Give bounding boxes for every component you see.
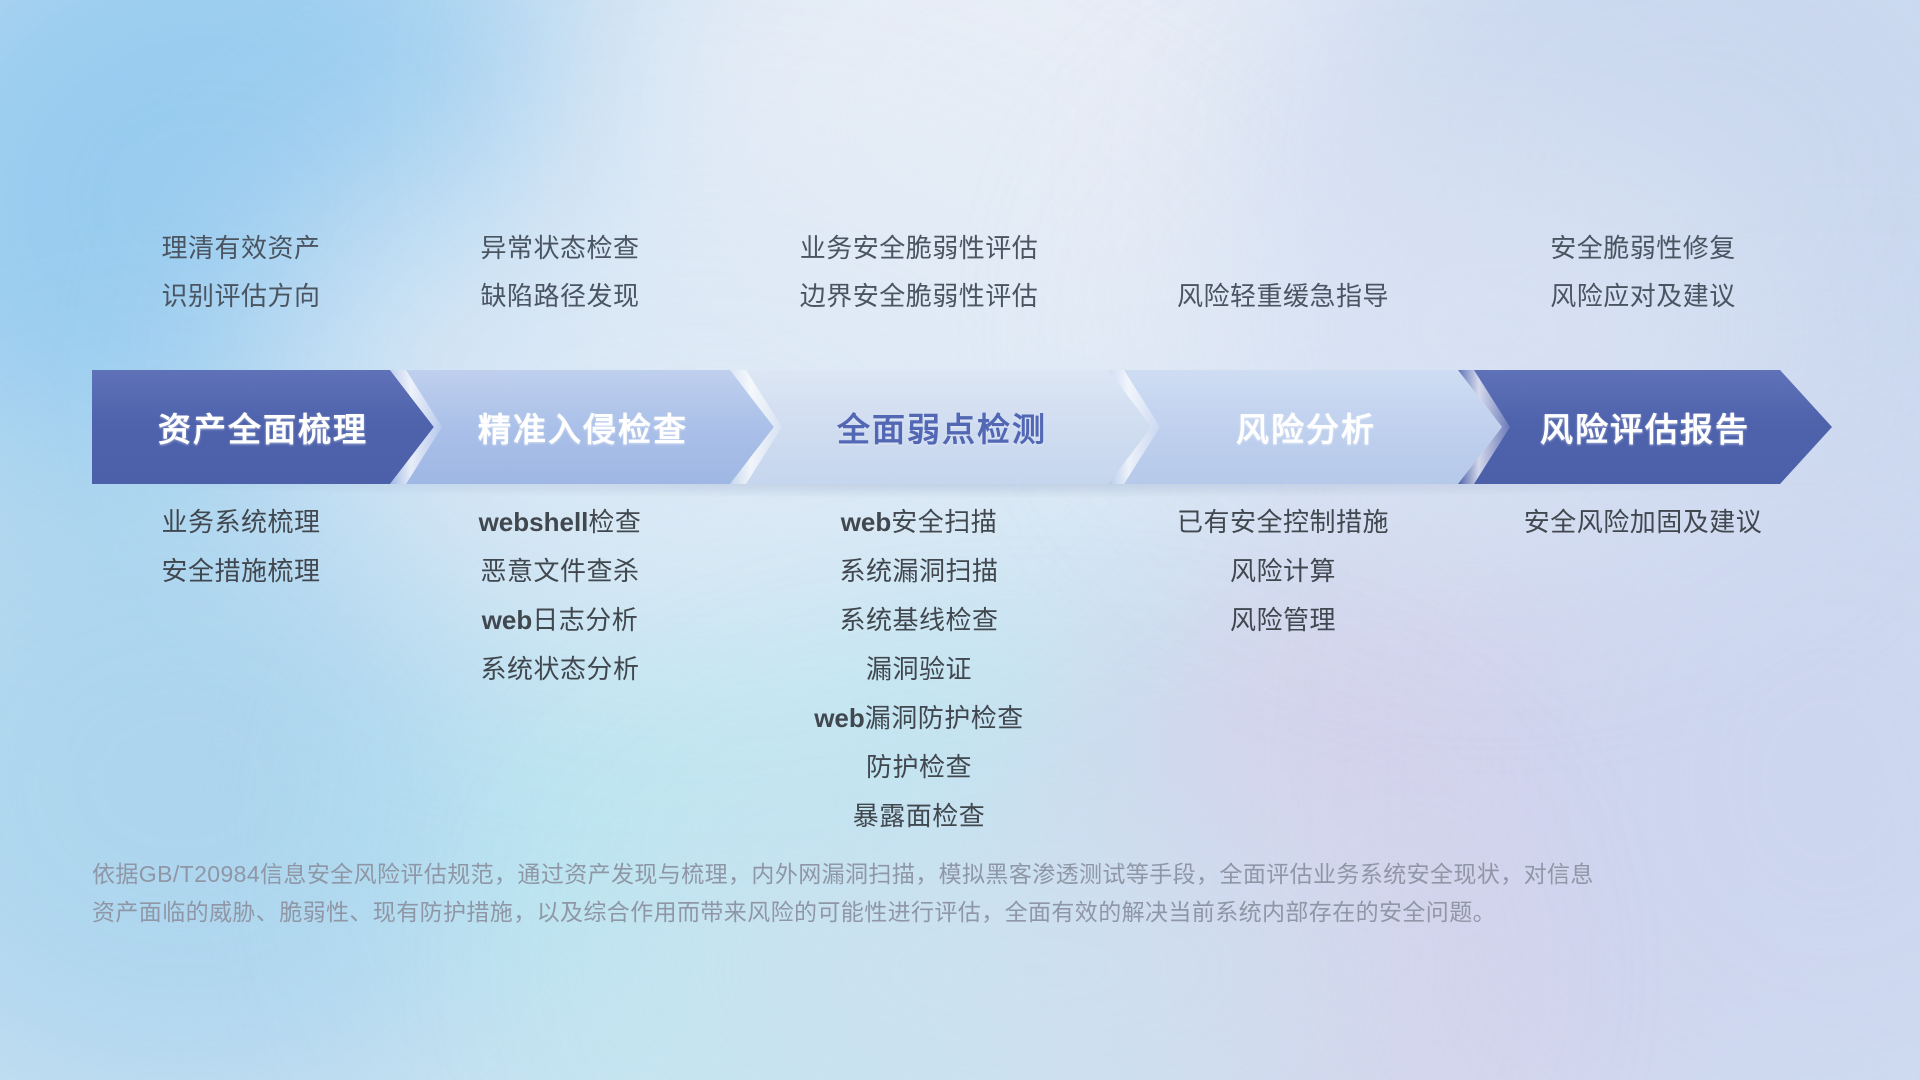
bottom-item-cjk: 防护检查 <box>866 752 972 782</box>
bottom-item: 风险管理 <box>1108 596 1458 645</box>
chevron-stage-weakness-detection[interactable]: 全面弱点检测 <box>730 370 1154 484</box>
bottom-item-latin: web <box>841 507 892 537</box>
bottom-item-cjk: 业务系统梳理 <box>161 507 320 537</box>
process-chevron-band: 资产全面梳理 精准入侵检查 全面弱点检测 风险分析 风险评估报告 <box>92 370 1832 484</box>
bottom-item-latin: web <box>482 605 533 635</box>
bottom-item: 系统漏洞扫描 <box>730 547 1108 596</box>
top-item: 安全脆弱性修复 <box>1458 224 1828 272</box>
bottom-item-cjk: 系统漏洞扫描 <box>839 556 998 586</box>
bottom-item-cjk: 暴露面检查 <box>853 801 986 831</box>
chevron-label: 风险分析 <box>1236 403 1376 451</box>
stage-top-items: 理清有效资产 识别评估方向 <box>92 224 390 320</box>
bottom-item: 系统基线检查 <box>730 596 1108 645</box>
bottom-item-cjk: 漏洞防护检查 <box>865 703 1024 733</box>
bottom-item-cjk: 风险计算 <box>1230 556 1336 586</box>
footer-description: 依据GB/T20984信息安全风险评估规范，通过资产发现与梳理，内外网漏洞扫描，… <box>92 855 1572 931</box>
bottom-item: webshell检查 <box>390 498 730 547</box>
bottom-item-cjk: 系统基线检查 <box>839 605 998 635</box>
stage-top-items: 业务安全脆弱性评估 边界安全脆弱性评估 <box>730 224 1108 320</box>
bottom-item-cjk: 日志分析 <box>532 605 638 635</box>
chevron-label: 全面弱点检测 <box>837 403 1047 451</box>
stage-bottom-items: webshell检查 恶意文件查杀 web日志分析 系统状态分析 <box>390 498 730 694</box>
bottom-item-cjk: 安全风险加固及建议 <box>1524 507 1763 537</box>
chevron-label: 资产全面梳理 <box>158 403 368 451</box>
bottom-item-cjk: 已有安全控制措施 <box>1177 507 1389 537</box>
stage-top-items: 异常状态检查 缺陷路径发现 <box>390 224 730 320</box>
process-diagram: 理清有效资产 识别评估方向 业务系统梳理 安全措施梳理 异常状态检查 缺陷路径发… <box>0 0 1920 1080</box>
stage-top-items: 风险轻重缓急指导 <box>1108 272 1458 320</box>
stage-bottom-items: 业务系统梳理 安全措施梳理 <box>92 498 390 596</box>
bottom-item: 风险计算 <box>1108 547 1458 596</box>
top-item: 风险轻重缓急指导 <box>1108 272 1458 320</box>
bottom-item-cjk: 风险管理 <box>1230 605 1336 635</box>
bottom-item-latin: webshell <box>479 507 589 537</box>
top-item: 理清有效资产 <box>92 224 390 272</box>
bottom-item: 安全措施梳理 <box>92 547 390 596</box>
bottom-item: 恶意文件查杀 <box>390 547 730 596</box>
bottom-item: 业务系统梳理 <box>92 498 390 547</box>
footer-line: 资产面临的威胁、脆弱性、现有防护措施，以及综合作用而带来风险的可能性进行评估，全… <box>92 893 1572 931</box>
bottom-item: 已有安全控制措施 <box>1108 498 1458 547</box>
bottom-item: 漏洞验证 <box>730 645 1108 694</box>
bottom-item-cjk: 安全扫描 <box>891 507 997 537</box>
chevron-stage-risk-report[interactable]: 风险评估报告 <box>1458 370 1832 484</box>
stage-bottom-items: 已有安全控制措施 风险计算 风险管理 <box>1108 498 1458 645</box>
bottom-item: 暴露面检查 <box>730 792 1108 841</box>
top-item: 风险应对及建议 <box>1458 272 1828 320</box>
stage-bottom-items: web安全扫描 系统漏洞扫描 系统基线检查 漏洞验证 web漏洞防护检查 防护检… <box>730 498 1108 841</box>
bottom-item-cjk: 漏洞验证 <box>866 654 972 684</box>
bottom-item: 防护检查 <box>730 743 1108 792</box>
chevron-stage-risk-analysis[interactable]: 风险分析 <box>1108 370 1504 484</box>
top-item: 缺陷路径发现 <box>390 272 730 320</box>
chevron-stage-asset-review[interactable]: 资产全面梳理 <box>92 370 434 484</box>
top-item: 异常状态检查 <box>390 224 730 272</box>
footer-line: 依据GB/T20984信息安全风险评估规范，通过资产发现与梳理，内外网漏洞扫描，… <box>92 855 1572 893</box>
bottom-item: 安全风险加固及建议 <box>1458 498 1828 547</box>
bottom-item-latin: web <box>814 703 865 733</box>
bottom-item-cjk: 系统状态分析 <box>480 654 639 684</box>
top-item: 识别评估方向 <box>92 272 390 320</box>
bottom-item: 系统状态分析 <box>390 645 730 694</box>
bottom-item: web安全扫描 <box>730 498 1108 547</box>
top-item: 边界安全脆弱性评估 <box>730 272 1108 320</box>
bottom-item-cjk: 恶意文件查杀 <box>480 556 639 586</box>
chevron-stage-intrusion-check[interactable]: 精准入侵检查 <box>390 370 776 484</box>
bottom-item: web日志分析 <box>390 596 730 645</box>
top-item: 业务安全脆弱性评估 <box>730 224 1108 272</box>
stage-top-items: 安全脆弱性修复 风险应对及建议 <box>1458 224 1828 320</box>
stage-bottom-items: 安全风险加固及建议 <box>1458 498 1828 547</box>
chevron-label: 风险评估报告 <box>1540 403 1750 451</box>
band-drop-shadow <box>92 482 1832 498</box>
bottom-item-cjk: 安全措施梳理 <box>161 556 320 586</box>
bottom-item-cjk: 检查 <box>588 507 641 537</box>
chevron-label: 精准入侵检查 <box>478 403 688 451</box>
bottom-item: web漏洞防护检查 <box>730 694 1108 743</box>
